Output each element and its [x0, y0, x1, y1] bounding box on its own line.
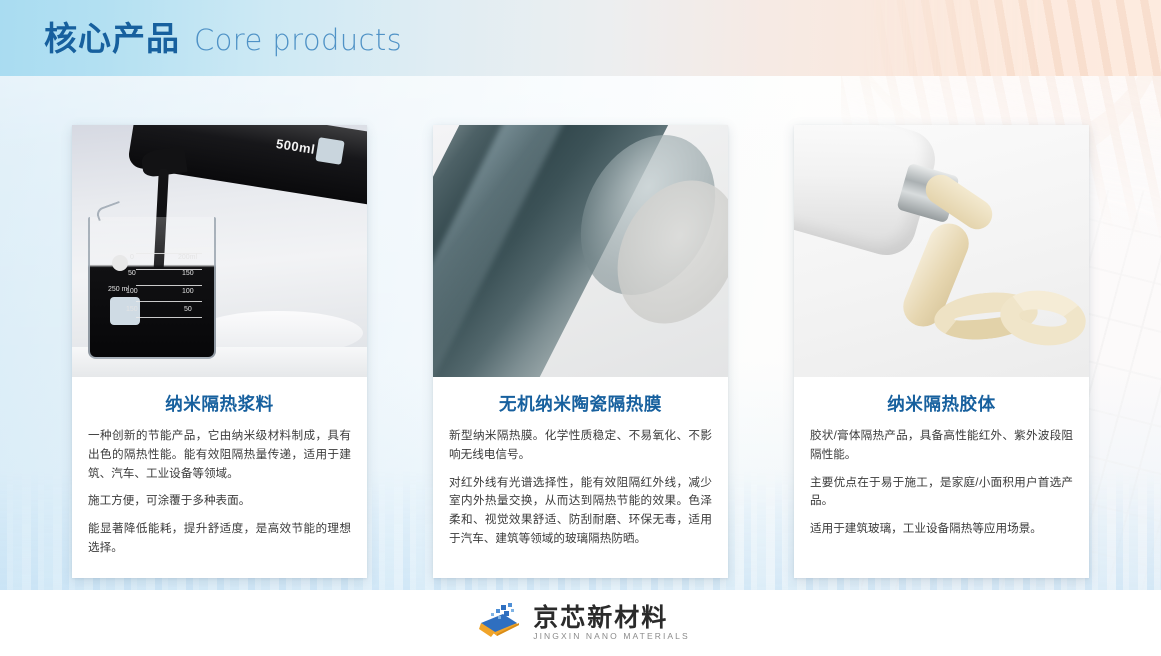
card-title-slurry: 纳米隔热浆料 [88, 391, 351, 416]
scale-left-150: 150 [126, 306, 138, 313]
product-card-row: 500ml 0 50 100 150 200ml 150 100 50 [0, 125, 1161, 578]
card-paragraph: 对红外线有光谱选择性，能有效阻隔红外线，减少室内外热量交换，从而达到隔热节能的效… [449, 474, 712, 549]
paste-segment-a [920, 169, 998, 235]
card-paragraph: 胶状/膏体隔热产品，具备高性能红外、紫外波段阻隔性能。 [810, 427, 1073, 465]
card-paragraph: 施工方便，可涂覆于多种表面。 [88, 492, 351, 511]
card-paragraph: 主要优点在于易于施工，是家庭/小面积用户首选产品。 [810, 474, 1073, 512]
card-paragraph: 适用于建筑玻璃，工业设备隔热等应用场景。 [810, 520, 1073, 539]
beaker-volume-label: 250 ml [108, 286, 129, 293]
header-columns-texture [861, 0, 1161, 76]
card-paragraph: 能显著降低能耗，提升舒适度，是高效节能的理想选择。 [88, 520, 351, 558]
beaker-spout [95, 201, 124, 221]
product-image-gel [794, 125, 1089, 377]
scale-left-50: 50 [128, 270, 136, 277]
scale-right-100: 100 [182, 288, 194, 295]
card-paragraph: 一种创新的节能产品，它由纳米级材料制成，具有出色的隔热性能。能有效阻隔热量传递，… [88, 427, 351, 483]
scale-left-0: 0 [130, 254, 134, 261]
product-image-slurry: 500ml 0 50 100 150 200ml 150 100 50 [72, 125, 367, 377]
slide-footer: 京芯新材料 JINGXIN NANO MATERIALS [0, 590, 1161, 656]
scale-right-200ml: 200ml [178, 254, 197, 261]
card-body-film: 无机纳米陶瓷隔热膜 新型纳米隔热膜。化学性质稳定、不易氧化、不影响无线电信号。 … [433, 377, 728, 569]
page-title-cn: 核心产品 [44, 22, 180, 55]
card-body-gel: 纳米隔热胶体 胶状/膏体隔热产品，具备高性能红外、紫外波段阻隔性能。 主要优点在… [794, 377, 1089, 559]
card-paragraph: 新型纳米隔热膜。化学性质稳定、不易氧化、不影响无线电信号。 [449, 427, 712, 465]
logo-mark-icon [471, 603, 523, 643]
product-card-gel[interactable]: 纳米隔热胶体 胶状/膏体隔热产品，具备高性能红外、紫外波段阻隔性能。 主要优点在… [794, 125, 1089, 578]
bottle-chip [315, 137, 344, 165]
card-body-slurry: 纳米隔热浆料 一种创新的节能产品，它由纳米级材料制成，具有出色的隔热性能。能有效… [72, 377, 367, 578]
slide-canvas: 核心产品 Core products 500ml 0 [0, 0, 1161, 656]
card-title-film: 无机纳米陶瓷隔热膜 [449, 391, 712, 416]
scale-right-150: 150 [182, 270, 194, 277]
brand-text-group: 京芯新材料 JINGXIN NANO MATERIALS [533, 606, 690, 641]
brand-name-en: JINGXIN NANO MATERIALS [533, 632, 690, 641]
brand-name-cn: 京芯新材料 [533, 606, 690, 631]
beaker-brand-dot [112, 255, 128, 271]
product-card-slurry[interactable]: 500ml 0 50 100 150 200ml 150 100 50 [72, 125, 367, 578]
header-title-group: 核心产品 Core products [0, 22, 402, 55]
brand-logo: 京芯新材料 JINGXIN NANO MATERIALS [471, 603, 690, 643]
card-title-gel: 纳米隔热胶体 [810, 391, 1073, 416]
scale-right-50: 50 [184, 306, 192, 313]
product-card-film[interactable]: 无机纳米陶瓷隔热膜 新型纳米隔热膜。化学性质稳定、不易氧化、不影响无线电信号。 … [433, 125, 728, 578]
product-image-film [433, 125, 728, 377]
slide-header: 核心产品 Core products [0, 0, 1161, 76]
beaker-shape: 0 50 100 150 200ml 150 100 50 250 ml [88, 217, 216, 359]
page-title-en: Core products [194, 26, 402, 55]
